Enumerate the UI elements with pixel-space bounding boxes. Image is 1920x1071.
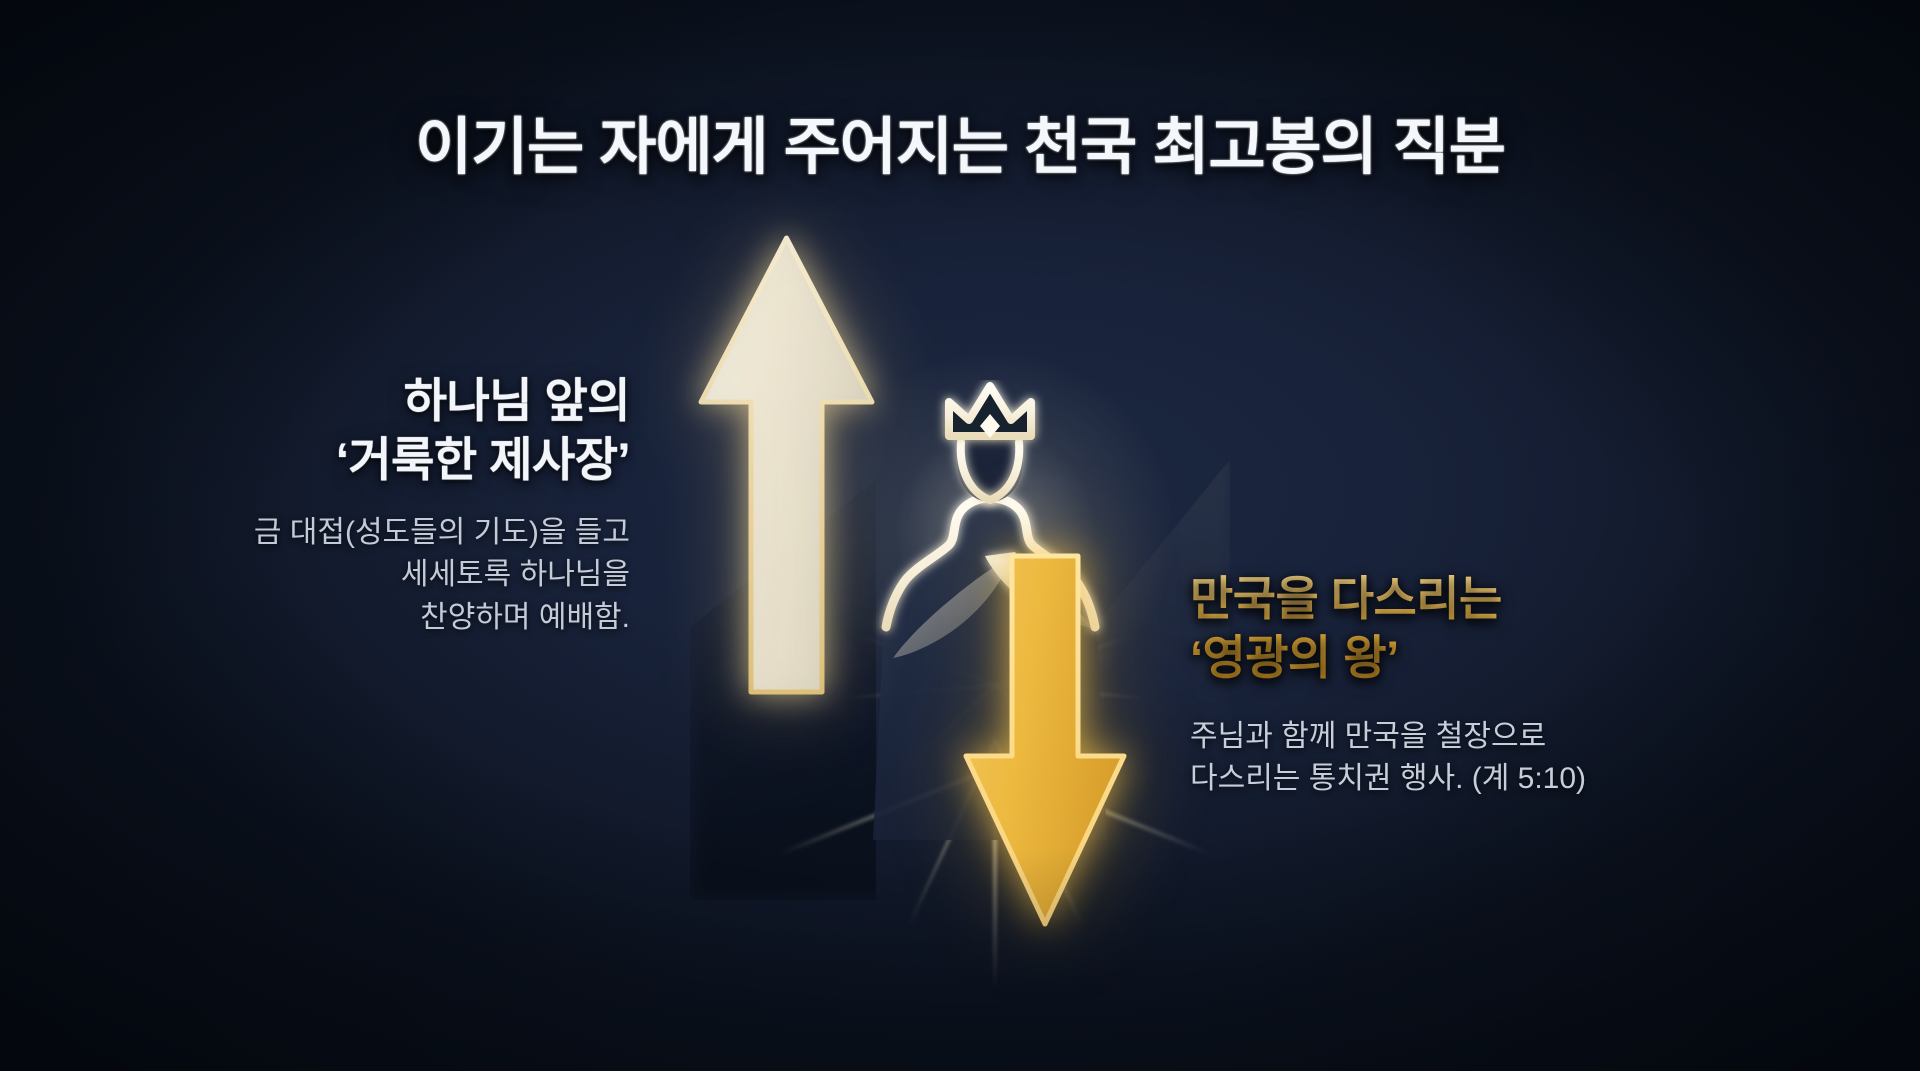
page-title: 이기는 자에게 주어지는 천국 최고봉의 직분 (0, 96, 1920, 186)
slide-canvas: 이기는 자에게 주어지는 천국 최고봉의 직분 하나님 앞의 ‘거룩한 제사장’… (0, 0, 1920, 1071)
right-body-text: 주님과 함께 만국을 철장으로 다스리는 통치권 행사. (계 5:10) (1190, 716, 1730, 801)
right-panel: 만국을 다스리는 ‘영광의 왕’ 주님과 함께 만국을 철장으로 다스리는 통치… (1190, 570, 1730, 801)
right-body-line-2: 다스리는 통치권 행사. (계 5:10) (1190, 758, 1730, 801)
left-heading: 하나님 앞의 ‘거룩한 제사장’ (170, 372, 630, 490)
right-heading-line-2: ‘영광의 왕’ (1190, 629, 1730, 688)
left-body-line-3: 찬양하며 예배함. (170, 597, 630, 640)
left-body-text: 금 대접(성도들의 기도)을 들고 세세토록 하나님을 찬양하며 예배함. (170, 512, 630, 640)
left-heading-line-2: ‘거룩한 제사장’ (170, 431, 630, 490)
right-heading-line-1: 만국을 다스리는 (1190, 570, 1730, 629)
right-heading: 만국을 다스리는 ‘영광의 왕’ (1190, 570, 1730, 688)
left-body-line-2: 세세토록 하나님을 (170, 554, 630, 597)
left-body-line-1: 금 대접(성도들의 기도)을 들고 (170, 512, 630, 555)
left-heading-line-1: 하나님 앞의 (170, 372, 630, 431)
right-body-line-1: 주님과 함께 만국을 철장으로 (1190, 716, 1730, 759)
left-panel: 하나님 앞의 ‘거룩한 제사장’ 금 대접(성도들의 기도)을 들고 세세토록 … (170, 372, 630, 639)
